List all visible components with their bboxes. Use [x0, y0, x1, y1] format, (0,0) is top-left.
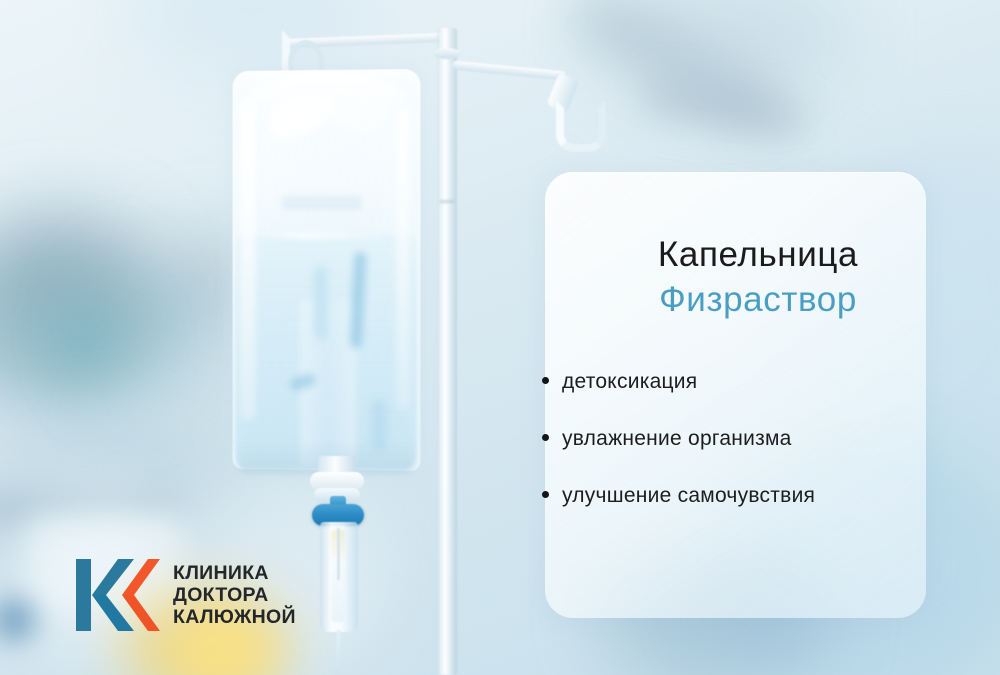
background-blur-blob — [40, 315, 130, 395]
list-item-label: улучшение самочувствия — [562, 484, 815, 508]
iv-stand-pole — [437, 28, 457, 675]
bullet-dot-icon — [542, 434, 549, 441]
info-card-content: Капельница Физраствор детоксикация увлаж… — [500, 172, 970, 618]
iv-stand-pole-seam — [440, 200, 454, 203]
list-item: увлажнение организма — [542, 427, 970, 451]
list-item-label: детоксикация — [562, 370, 697, 394]
promo-banner: Капельница Физраствор детоксикация увлаж… — [0, 0, 1000, 675]
benefits-list: детоксикация увлажнение организма улучше… — [500, 370, 970, 541]
list-item: детоксикация — [542, 370, 970, 394]
iv-bag-fluid-level — [238, 232, 414, 239]
bullet-dot-icon — [542, 491, 549, 498]
logo-line-3: КАЛЮЖНОЙ — [173, 606, 296, 628]
logo-line-1: КЛИНИКА — [173, 562, 296, 584]
iv-bag-edge-highlight — [396, 110, 410, 410]
card-heading-group: Капельница Физраствор — [500, 234, 970, 322]
iv-stand-hook-right — [556, 100, 606, 152]
clinic-logo[interactable]: КЛИНИКА ДОКТОРА КАЛЮЖНОЙ — [76, 557, 296, 633]
iv-bag-blue-reflection — [316, 266, 325, 340]
list-item-label: увлажнение организма — [562, 427, 792, 451]
iv-bag-embossed-text — [282, 196, 362, 210]
drip-chamber-needle — [337, 528, 340, 580]
iv-bag-edge-highlight — [240, 100, 256, 420]
bullet-dot-icon — [542, 377, 549, 384]
page-title: Капельница — [546, 234, 970, 275]
double-chevron-k-icon — [76, 557, 160, 633]
logo-line-2: ДОКТОРА — [173, 584, 296, 606]
iv-stand-pole-cap — [433, 48, 461, 59]
clinic-logo-text: КЛИНИКА ДОКТОРА КАЛЮЖНОЙ — [173, 562, 296, 628]
page-subtitle: Физраствор — [546, 278, 970, 322]
list-item: улучшение самочувствия — [542, 484, 970, 508]
